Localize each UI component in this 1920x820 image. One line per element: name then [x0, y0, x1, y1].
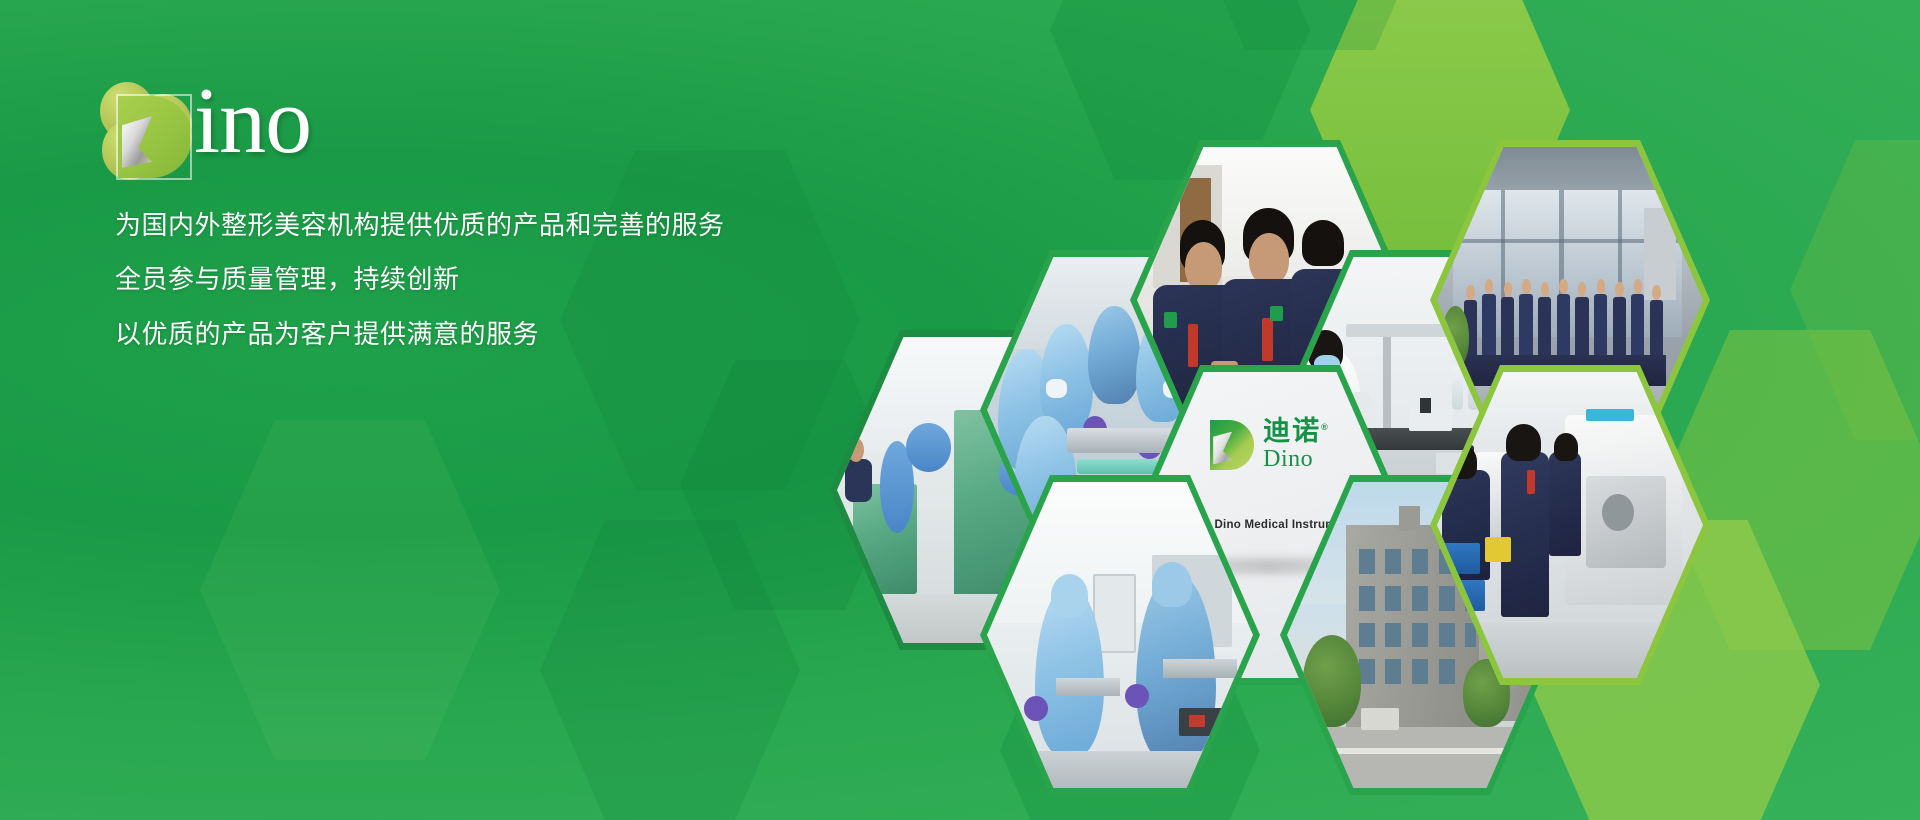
brand-name-en: Dino — [1263, 447, 1330, 471]
tagline-2: 全员参与质量管理，持续创新 — [115, 266, 875, 293]
registered-trademark-icon: ® — [1321, 422, 1330, 432]
tagline-block: 为国内外整形美容机构提供优质的产品和完善的服务 全员参与质量管理，持续创新 以优… — [115, 212, 875, 375]
dino-leaf-mark-icon — [1210, 420, 1254, 470]
center-brand-lockup: 迪诺® Dino — [1137, 418, 1403, 471]
hex-left-lower-light — [200, 420, 500, 760]
hex-photo-cleanroom-2 — [987, 482, 1253, 788]
tagline-1: 为国内外整形美容机构提供优质的产品和完善的服务 — [115, 212, 875, 239]
tagline-3: 以优质的产品为客户提供满意的服务 — [115, 321, 875, 348]
hero-banner: ino 为国内外整形美容机构提供优质的产品和完善的服务 全员参与质量管理，持续创… — [0, 0, 1920, 820]
hex-photo-cnc-shop — [1437, 372, 1703, 678]
brand-logo: ino — [96, 72, 396, 180]
brand-wordmark: ino — [194, 74, 311, 168]
brand-name-cn: 迪诺® — [1263, 418, 1330, 445]
